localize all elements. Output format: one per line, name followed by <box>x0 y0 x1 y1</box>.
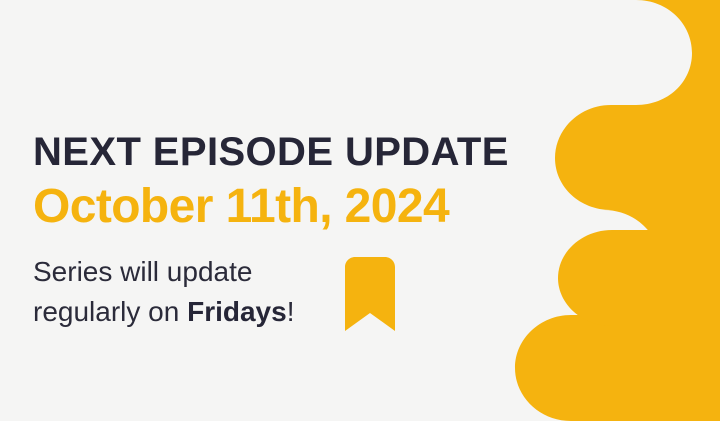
schedule-note-prefix: regularly on <box>33 296 187 327</box>
bookmark-icon <box>345 257 395 331</box>
schedule-note-suffix: ! <box>287 296 295 327</box>
episode-date: October 11th, 2024 <box>33 180 449 234</box>
schedule-note-line-1: Series will update <box>33 252 294 292</box>
schedule-note: Series will update regularly on Fridays! <box>33 252 294 332</box>
page-title: NEXT EPISODE UPDATE <box>33 130 509 174</box>
bookmark-glyph <box>345 257 395 331</box>
wave-lobe-lower <box>558 230 720 326</box>
next-episode-update-banner: NEXT EPISODE UPDATE October 11th, 2024 S… <box>0 0 720 421</box>
schedule-note-line-2: regularly on Fridays! <box>33 292 294 332</box>
schedule-note-emphasis: Fridays <box>187 296 287 327</box>
banner-content: NEXT EPISODE UPDATE October 11th, 2024 S… <box>33 0 553 421</box>
